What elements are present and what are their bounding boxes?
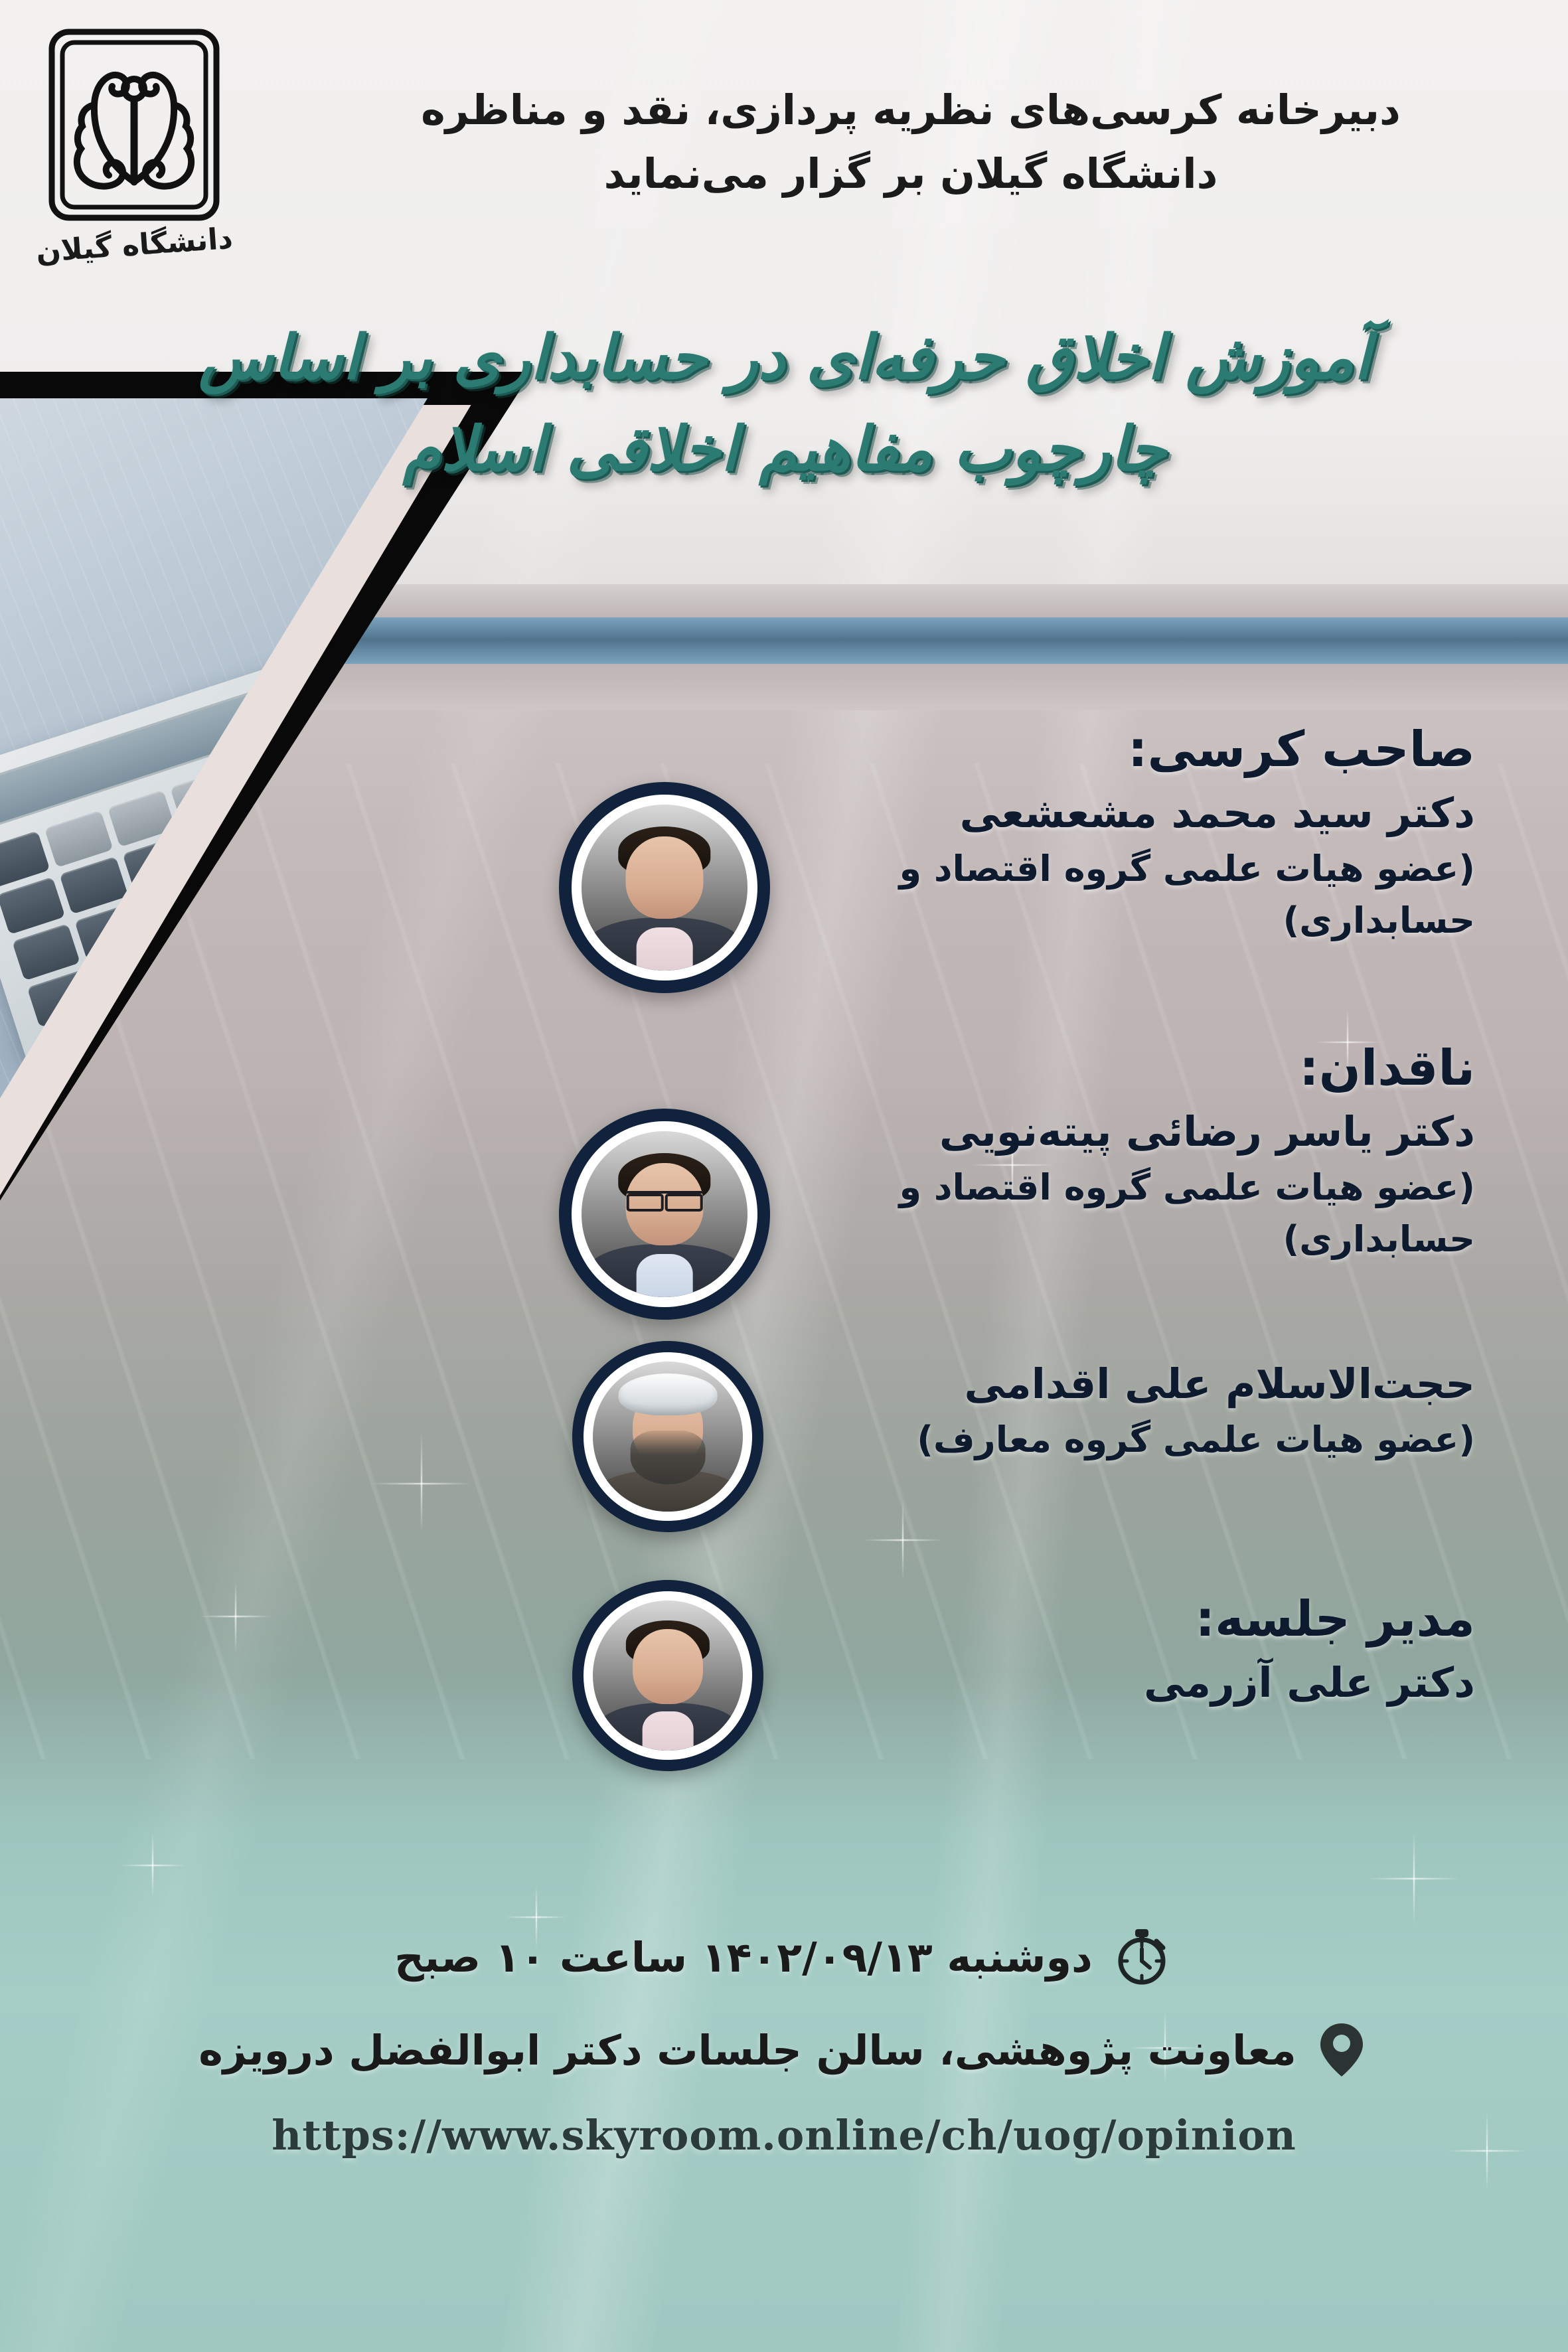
organizer-header: دبیرخانه کرسی‌های نظریه پردازی، نقد و من… xyxy=(347,78,1475,206)
event-datetime: دوشنبه ۱۴۰۲/۰۹/۱۳ ساعت ۱۰ صبح xyxy=(394,1933,1093,1982)
avatar-portrait xyxy=(582,1131,747,1296)
name-chair-holder: دکتر سید محمد مشعشعی xyxy=(732,783,1475,843)
participant-chair-holder: صاحب کرسی: دکتر سید محمد مشعشعی (عضو هیا… xyxy=(0,717,1568,1036)
logo-caption: دانشگاه گیلان xyxy=(35,222,234,270)
eyeglasses-icon xyxy=(627,1191,703,1206)
avatar-white-ring xyxy=(584,1352,751,1520)
event-location: معاونت پژوهشی، سالن جلسات دکتر ابوالفضل … xyxy=(198,2026,1296,2075)
participant-critic-two: حجت‌الاسلام علی اقدامی (عضو هیات علمی گر… xyxy=(0,1341,1568,1573)
name-session-director: دکتر علی آزرمی xyxy=(732,1653,1475,1713)
location-row: معاونت پژوهشی، سالن جلسات دکتر ابوالفضل … xyxy=(0,2018,1568,2082)
event-title-line-1: آموزش اخلاق حرفه‌ای در حسابداری بر اساس xyxy=(101,312,1468,404)
event-poster: دانشگاه گیلان دبیرخانه کرسی‌های نظریه پر… xyxy=(0,0,1568,2352)
affiliation-critic-two: (عضو هیات علمی گروه معارف) xyxy=(732,1414,1475,1466)
organizer-line-1: دبیرخانه کرسی‌های نظریه پردازی، نقد و من… xyxy=(347,78,1475,142)
affiliation-critic-one: (عضو هیات علمی گروه اقتصاد و حسابداری) xyxy=(732,1162,1475,1266)
role-label-session-director: مدیر جلسه: xyxy=(732,1587,1475,1653)
turban-shape xyxy=(619,1373,718,1415)
datetime-row: دوشنبه ۱۴۰۲/۰۹/۱۳ ساعت ۱۰ صبح xyxy=(0,1925,1568,1989)
university-logo: دانشگاه گیلان xyxy=(28,25,240,304)
map-pin-icon xyxy=(1314,2018,1370,2082)
name-critic-one: دکتر یاسر رضائی پیته‌نویی xyxy=(732,1102,1475,1162)
stopwatch-icon xyxy=(1110,1925,1174,1989)
participants-section: صاحب کرسی: دکتر سید محمد مشعشعی (عضو هیا… xyxy=(0,717,1568,1812)
role-label-chair-holder: صاحب کرسی: xyxy=(732,717,1475,783)
participant-session-director: مدیر جلسه: دکتر علی آزرمی xyxy=(0,1573,1568,1812)
affiliation-chair-holder: (عضو هیات علمی گروه اقتصاد و حسابداری) xyxy=(732,843,1475,947)
avatar-white-ring xyxy=(572,1121,757,1307)
event-url[interactable]: https://www.skyroom.online/ch/uog/opinio… xyxy=(0,2111,1568,2159)
event-title-line-2: چارچوب مفاهیم اخلاقی اسلام xyxy=(101,404,1468,495)
avatar-portrait xyxy=(593,1601,743,1751)
beard-shape xyxy=(631,1431,706,1484)
name-critic-two: حجت‌الاسلام علی اقدامی xyxy=(732,1354,1475,1414)
avatar-portrait xyxy=(582,805,747,970)
avatar-portrait xyxy=(593,1362,743,1512)
avatar-white-ring xyxy=(584,1591,751,1759)
role-label-critics: ناقدان: xyxy=(732,1036,1475,1102)
avatar-white-ring xyxy=(572,795,757,980)
university-of-gilan-emblem-icon xyxy=(45,25,223,224)
organizer-line-2: دانشگاه گیلان بر گزار می‌نماید xyxy=(347,142,1475,206)
participant-critic-one: ناقدان: دکتر یاسر رضائی پیته‌نویی (عضو ه… xyxy=(0,1036,1568,1341)
event-footer: دوشنبه ۱۴۰۲/۰۹/۱۳ ساعت ۱۰ صبح معاونت پژو… xyxy=(0,1925,1568,2159)
event-title: آموزش اخلاق حرفه‌ای در حسابداری بر اساس … xyxy=(101,312,1468,495)
